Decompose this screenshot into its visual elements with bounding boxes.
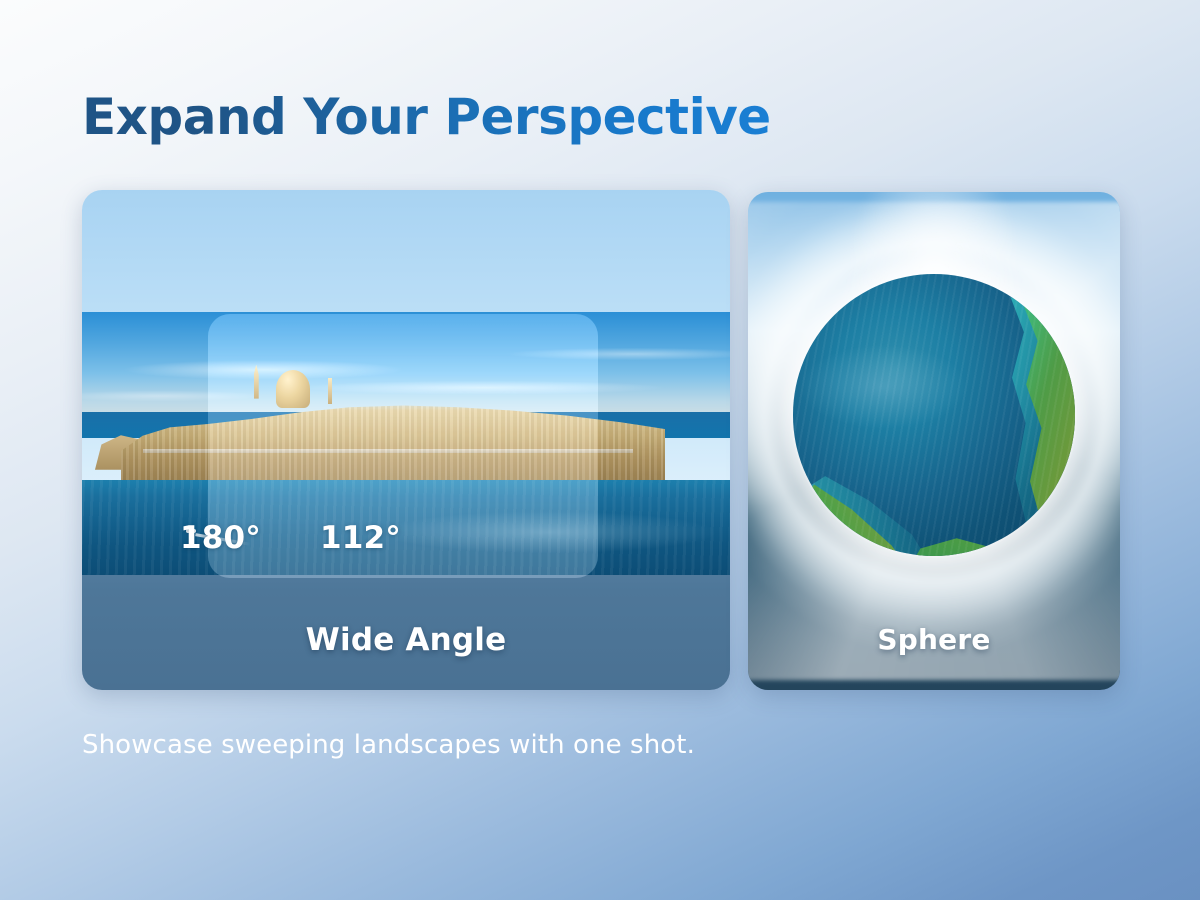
- caption-text: Showcase sweeping landscapes with one sh…: [82, 730, 695, 760]
- card-sphere[interactable]: Sphere: [748, 192, 1120, 690]
- crop-selection-panel[interactable]: [208, 314, 598, 578]
- sphere-coastline-right: [988, 302, 1076, 544]
- sphere-reef-shelf-right: [985, 297, 1070, 550]
- card-label-sphere: Sphere: [748, 623, 1120, 656]
- badge-field-of-view-crop: 112°: [320, 520, 401, 556]
- slide-canvas: Expand Your Perspective 180° 112° Wide A…: [0, 0, 1200, 900]
- card-label-wide-angle: Wide Angle: [82, 622, 730, 658]
- sphere-coastline-bottom-left: [793, 460, 912, 556]
- card-wide-angle[interactable]: 180° 112° Wide Angle: [82, 190, 730, 690]
- sphere-coastline-bottom: [900, 511, 1013, 556]
- tiny-planet-sphere: [793, 274, 1076, 555]
- sphere-reef-shelf-bottom-left: [793, 460, 929, 556]
- badge-field-of-view-full: 180°: [180, 520, 261, 556]
- page-title: Expand Your Perspective: [82, 88, 771, 146]
